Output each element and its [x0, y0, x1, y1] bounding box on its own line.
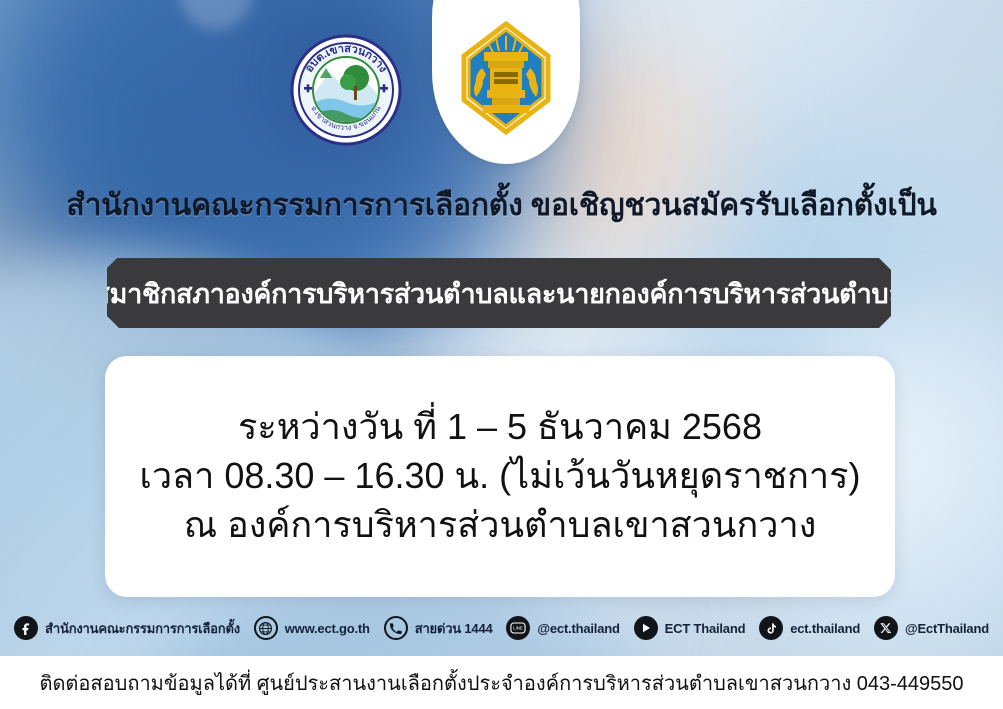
detail-line-dates: ระหว่างวัน ที่ 1 – 5 ธันวาคม 2568 [238, 404, 762, 451]
khao-suan-kwang-sao-seal: อบต.เขาสวนกวาง อ.เขาสวนกวาง จ.ขอนแก่น [290, 34, 402, 146]
contact-strip: ติดต่อสอบถามข้อมูลได้ที่ ศูนย์ประสานงานเ… [0, 656, 1003, 709]
social-link-facebook-label: สำนักงานคณะกรรมการการเลือกตั้ง [45, 618, 240, 639]
line-icon: LINE [506, 616, 530, 640]
contact-strip-text: ติดต่อสอบถามข้อมูลได้ที่ ศูนย์ประสานงานเ… [39, 667, 963, 699]
social-link-youtube-label: ECT Thailand [665, 621, 746, 636]
social-link-hotline[interactable]: สายด่วน 1444 [384, 616, 493, 640]
social-link-line[interactable]: LINE @ect.thailand [506, 616, 619, 640]
social-link-x-label: @EctThailand [905, 621, 989, 636]
globe-icon [254, 616, 278, 640]
phone-icon [384, 616, 408, 640]
tiktok-icon [759, 616, 783, 640]
social-link-tiktok[interactable]: ect.thailand [759, 616, 860, 640]
social-link-hotline-label: สายด่วน 1444 [415, 618, 493, 639]
social-link-youtube[interactable]: ECT Thailand [634, 616, 746, 640]
social-link-facebook[interactable]: สำนักงานคณะกรรมการการเลือกตั้ง [14, 616, 240, 640]
facebook-icon [14, 616, 38, 640]
page-title: สำนักงานคณะกรรมการการเลือกตั้ง ขอเชิญชวน… [0, 182, 1003, 229]
detail-line-venue: ณ องค์การบริหารส่วนตำบลเขาสวนกวาง [184, 502, 817, 549]
social-link-tiktok-label: ect.thailand [790, 621, 860, 636]
detail-line-hours: เวลา 08.30 – 16.30 น. (ไม่เว้นวันหยุดราช… [140, 453, 861, 500]
details-card: ระหว่างวัน ที่ 1 – 5 ธันวาคม 2568 เวลา 0… [105, 356, 895, 597]
social-link-line-label: @ect.thailand [537, 621, 619, 636]
poster-root: อบต.เขาสวนกวาง อ.เขาสวนกวาง จ.ขอนแก่น สำ… [0, 0, 1003, 709]
x-twitter-icon [874, 616, 898, 640]
social-link-x[interactable]: @EctThailand [874, 616, 989, 640]
social-link-website-label: www.ect.go.th [285, 621, 370, 636]
social-links-bar: สำนักงานคณะกรรมการการเลือกตั้ง www.ect.g… [0, 600, 1003, 656]
position-banner: สมาชิกสภาองค์การบริหารส่วนตำบลและนายกองค… [107, 258, 891, 328]
youtube-icon [634, 616, 658, 640]
social-link-website[interactable]: www.ect.go.th [254, 616, 370, 640]
position-banner-text: สมาชิกสภาองค์การบริหารส่วนตำบลและนายกองค… [93, 272, 904, 315]
svg-text:LINE: LINE [514, 625, 524, 630]
ect-emblem [452, 16, 560, 140]
